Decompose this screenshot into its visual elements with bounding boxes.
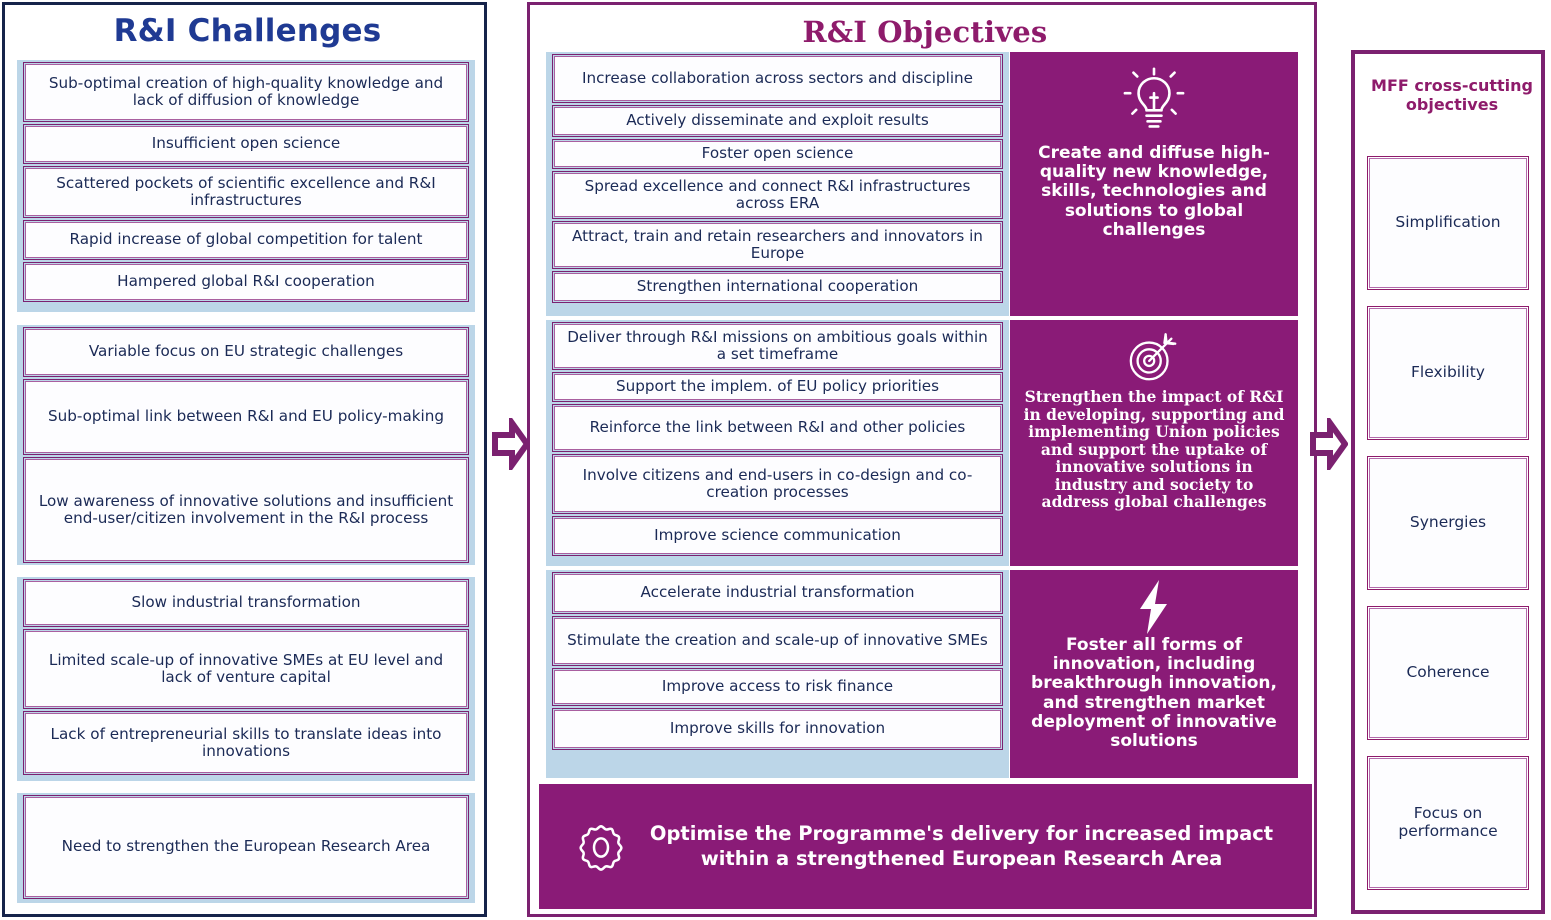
lightning-bolt-icon (1132, 578, 1176, 636)
challenge-item-label: Variable focus on EU strategic challenge… (32, 343, 460, 360)
diagram-canvas: R&I Challenges Sub-optimal creation of h… (0, 0, 1551, 920)
objective-item-label: Actively disseminate and exploit results (561, 112, 994, 129)
challenge-item[interactable]: Insufficient open science (25, 126, 467, 162)
outcome-card-text: Strengthen the impact of R&I in developi… (1020, 388, 1288, 511)
challenge-item[interactable]: Need to strengthen the European Research… (25, 797, 467, 897)
objective-item-label: Increase collaboration across sectors an… (561, 70, 994, 87)
challenge-item-label: Scattered pockets of scientific excellen… (32, 175, 460, 209)
objectives-group-3: Accelerate industrial transformation Sti… (546, 570, 1009, 778)
objective-item-label: Improve skills for innovation (561, 720, 994, 737)
objective-item-label: Involve citizens and end-users in co-des… (561, 467, 994, 501)
challenge-item[interactable]: Sub-optimal link between R&I and EU poli… (25, 381, 467, 453)
objective-item[interactable]: Spread excellence and connect R&I infras… (554, 173, 1001, 217)
challenge-item[interactable]: Slow industrial transformation (25, 581, 467, 625)
objective-item[interactable]: Reinforce the link between R&I and other… (554, 406, 1001, 450)
challenge-item-label: Slow industrial transformation (32, 594, 460, 611)
mff-item-label: Focus on performance (1370, 805, 1526, 841)
objective-item-label: Strengthen international cooperation (561, 278, 994, 295)
objective-item[interactable]: Actively disseminate and exploit results (554, 107, 1001, 135)
objective-item-label: Support the implem. of EU policy priorit… (561, 378, 994, 395)
objective-item-label: Attract, train and retain researchers an… (561, 228, 994, 262)
objective-item[interactable]: Accelerate industrial transformation (554, 574, 1001, 612)
challenges-group-1: Sub-optimal creation of high-quality kno… (17, 60, 475, 312)
challenges-panel: R&I Challenges Sub-optimal creation of h… (2, 2, 487, 917)
challenge-item[interactable]: Sub-optimal creation of high-quality kno… (25, 64, 467, 120)
objective-item-label: Stimulate the creation and scale-up of i… (561, 632, 994, 649)
objectives-group-1: Increase collaboration across sectors an… (546, 52, 1009, 316)
challenge-item[interactable]: Limited scale-up of innovative SMEs at E… (25, 631, 467, 707)
arrow-challenges-to-objectives (492, 418, 530, 470)
challenges-group-2: Variable focus on EU strategic challenge… (17, 325, 475, 565)
objective-item-label: Reinforce the link between R&I and other… (561, 419, 994, 436)
objective-item[interactable]: Strengthen international cooperation (554, 273, 1001, 301)
mff-item-focus-on-performance[interactable]: Focus on performance (1369, 758, 1527, 888)
outcome-card-innovation[interactable]: Foster all forms of innovation, includin… (1010, 570, 1298, 778)
gear-icon (565, 816, 637, 878)
mff-item-label: Simplification (1395, 214, 1500, 232)
challenge-item[interactable]: Variable focus on EU strategic challenge… (25, 329, 467, 375)
challenges-title: R&I Challenges (5, 13, 490, 49)
challenge-item[interactable]: Low awareness of innovative solutions an… (25, 459, 467, 561)
mff-title: MFF cross-cutting objectives (1355, 76, 1549, 114)
mff-item-synergies[interactable]: Synergies (1369, 458, 1527, 588)
challenges-group-3: Slow industrial transformation Limited s… (17, 577, 475, 781)
challenge-item-label: Sub-optimal creation of high-quality kno… (32, 75, 460, 109)
challenge-item[interactable]: Scattered pockets of scientific excellen… (25, 168, 467, 216)
target-icon (1123, 328, 1185, 388)
objective-item-label: Improve access to risk finance (561, 678, 994, 695)
outcome-card-text: Create and diffuse high-quality new know… (1020, 144, 1288, 240)
objective-item[interactable]: Stimulate the creation and scale-up of i… (554, 618, 1001, 664)
challenge-item-label: Low awareness of innovative solutions an… (32, 493, 460, 527)
delivery-banner[interactable]: Optimise the Programme's delivery for in… (539, 784, 1312, 909)
outcome-card-impact[interactable]: Strengthen the impact of R&I in developi… (1010, 320, 1298, 566)
mff-item-label: Flexibility (1411, 364, 1485, 382)
objectives-group-2: Deliver through R&I missions on ambitiou… (546, 320, 1009, 566)
delivery-banner-text: Optimise the Programme's delivery for in… (637, 822, 1286, 871)
challenge-item-label: Need to strengthen the European Research… (32, 838, 460, 855)
mff-item-label: Coherence (1406, 664, 1489, 682)
objective-item[interactable]: Improve science communication (554, 518, 1001, 554)
challenge-item-label: Hampered global R&I cooperation (32, 273, 460, 290)
outcome-card-text: Foster all forms of innovation, includin… (1020, 636, 1288, 751)
objective-item-label: Accelerate industrial transformation (561, 584, 994, 601)
objective-item[interactable]: Attract, train and retain researchers an… (554, 223, 1001, 267)
challenge-item-label: Limited scale-up of innovative SMEs at E… (32, 652, 460, 686)
objective-item-label: Spread excellence and connect R&I infras… (561, 178, 994, 212)
objective-item[interactable]: Support the implem. of EU policy priorit… (554, 374, 1001, 400)
objective-item[interactable]: Improve access to risk finance (554, 670, 1001, 704)
challenge-item-label: Sub-optimal link between R&I and EU poli… (32, 408, 460, 425)
arrow-objectives-to-mff (1310, 418, 1348, 470)
objectives-title: R&I Objectives (530, 15, 1320, 49)
challenge-item-label: Lack of entrepreneurial skills to transl… (32, 726, 460, 760)
challenge-item[interactable]: Lack of entrepreneurial skills to transl… (25, 713, 467, 773)
objective-item-label: Improve science communication (561, 527, 994, 544)
outcome-card-knowledge[interactable]: Create and diffuse high-quality new know… (1010, 52, 1298, 316)
challenge-item-label: Insufficient open science (32, 135, 460, 152)
objective-item-label: Foster open science (561, 145, 994, 162)
mff-panel: MFF cross-cutting objectives Simplificat… (1351, 50, 1545, 914)
challenge-item-label: Rapid increase of global competition for… (32, 231, 460, 248)
challenges-group-4: Need to strengthen the European Research… (17, 793, 475, 903)
challenge-item[interactable]: Hampered global R&I cooperation (25, 264, 467, 300)
objective-item[interactable]: Involve citizens and end-users in co-des… (554, 456, 1001, 512)
mff-item-coherence[interactable]: Coherence (1369, 608, 1527, 738)
objective-item-label: Deliver through R&I missions on ambitiou… (561, 329, 994, 363)
challenge-item[interactable]: Rapid increase of global competition for… (25, 222, 467, 258)
objective-item[interactable]: Improve skills for innovation (554, 710, 1001, 748)
objective-item[interactable]: Increase collaboration across sectors an… (554, 56, 1001, 101)
lightbulb-icon (1116, 60, 1192, 144)
objective-item[interactable]: Deliver through R&I missions on ambitiou… (554, 324, 1001, 368)
mff-item-flexibility[interactable]: Flexibility (1369, 308, 1527, 438)
mff-item-label: Synergies (1410, 514, 1486, 532)
mff-item-simplification[interactable]: Simplification (1369, 158, 1527, 288)
objective-item[interactable]: Foster open science (554, 141, 1001, 167)
